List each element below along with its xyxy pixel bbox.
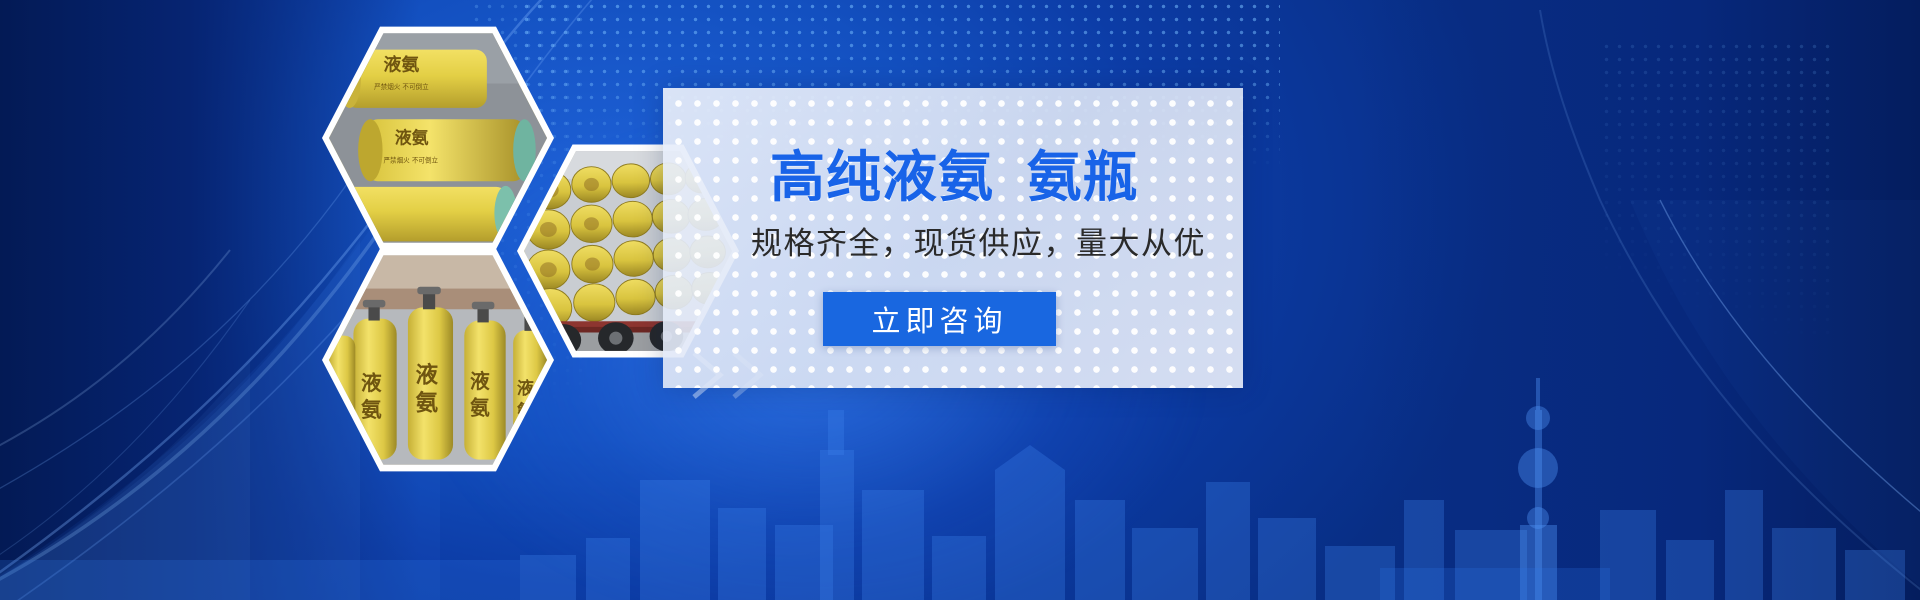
consult-now-button[interactable]: 立即咨询 (823, 292, 1056, 346)
svg-text:液氨: 液氨 (395, 128, 429, 148)
content-panel: 高纯液氨 氨瓶 规格齐全，现货供应，量大从优 立即咨询 (663, 88, 1243, 388)
promo-banner: 液氨 严禁烟火 不可倒立 液氨 严禁烟火 不可倒立 (0, 0, 1920, 600)
svg-text:严禁烟火 不可倒立: 严禁烟火 不可倒立 (374, 82, 429, 91)
svg-text:液氨: 液氨 (384, 53, 420, 75)
svg-text:严禁烟火 不可倒立: 严禁烟火 不可倒立 (384, 155, 439, 164)
svg-text:液: 液 (415, 362, 438, 389)
photo-hex-cylinders-standing: 液 氨 液 氨 液 氨 液 氨 (322, 244, 554, 476)
dot-pattern-right (1600, 40, 1830, 340)
svg-text:氨: 氨 (361, 397, 382, 421)
svg-text:液: 液 (361, 371, 382, 395)
consult-now-label: 立即咨询 (871, 298, 1007, 340)
svg-text:液: 液 (470, 370, 490, 393)
page-title: 高纯液氨 氨瓶 (770, 148, 1230, 206)
page-subtitle: 规格齐全，现货供应，量大从优 (751, 226, 1231, 262)
tower-icon (1518, 378, 1558, 600)
svg-text:氨: 氨 (415, 390, 438, 417)
svg-text:氨: 氨 (470, 397, 490, 420)
